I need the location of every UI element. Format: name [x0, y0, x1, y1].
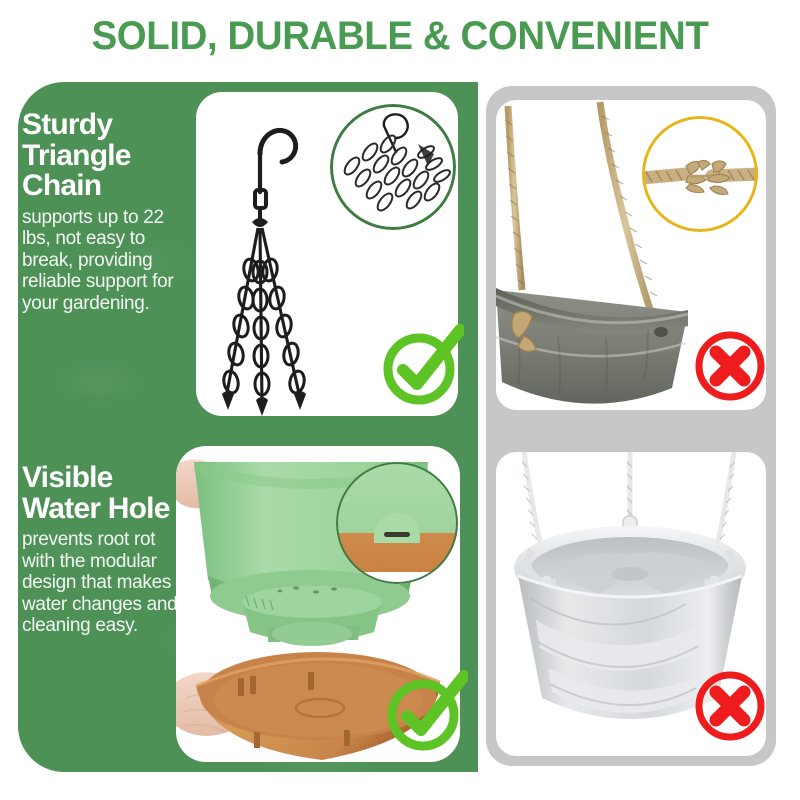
status-badge-rejected-rope	[692, 328, 768, 404]
feature-block-visible-water-hole: Visible Water Hole prevents root rot wit…	[22, 463, 188, 637]
feature-body: prevents root rot with the modular desig…	[22, 529, 188, 636]
chain-links-closeup-icon	[330, 104, 456, 230]
frayed-rope-closeup-icon	[642, 116, 758, 232]
page-title: SOLID, DURABLE & CONVENIENT	[16, 14, 784, 59]
status-badge-rejected-basket	[692, 668, 768, 744]
feature-heading: Visible Water Hole	[22, 463, 188, 524]
status-badge-approved-pot	[382, 670, 468, 756]
check-circle-icon	[382, 670, 468, 756]
frayed-rope-closeup-inset	[642, 116, 758, 232]
cross-circle-icon	[692, 328, 768, 404]
feature-block-sturdy-triangle-chain: Sturdy Triangle Chain supports up to 22 …	[22, 110, 188, 314]
water-hole-opening	[384, 532, 410, 537]
check-circle-icon	[378, 324, 464, 410]
feature-body: supports up to 22 lbs, not easy to break…	[22, 207, 188, 314]
inset-white-base	[336, 572, 458, 584]
feature-heading: Sturdy Triangle Chain	[22, 110, 188, 202]
infographic-stage: SOLID, DURABLE & CONVENIENT Sturdy Trian…	[0, 0, 800, 800]
chain-links-closeup-inset	[330, 104, 456, 230]
status-badge-approved-chain	[378, 324, 464, 410]
cross-circle-icon	[692, 668, 768, 744]
water-hole-closeup-inset	[336, 462, 458, 584]
